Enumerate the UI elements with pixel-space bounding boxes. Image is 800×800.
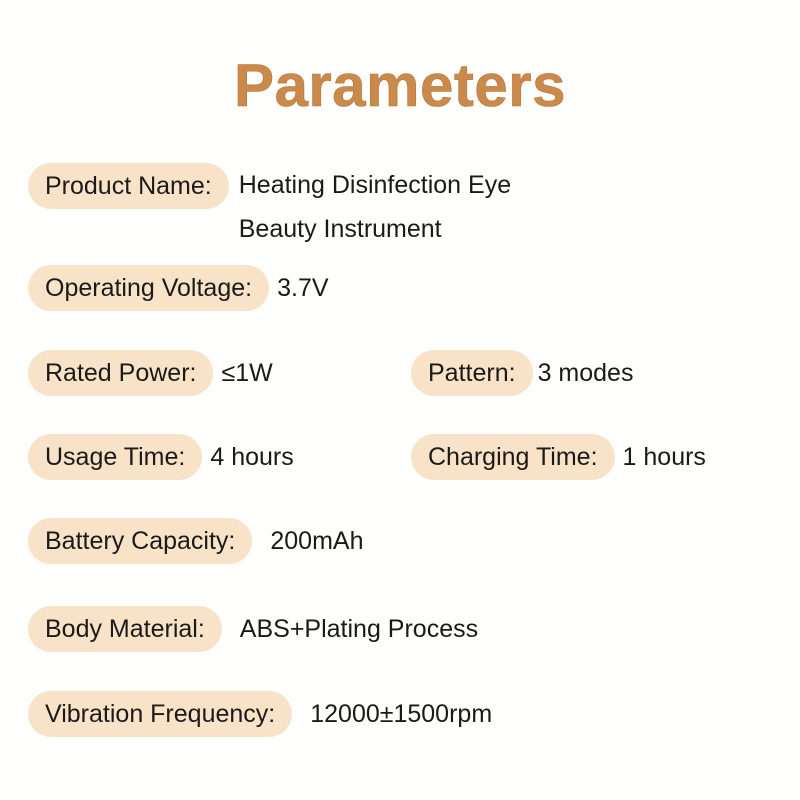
spec-value-product-name-line2: Beauty Instrument <box>239 207 511 251</box>
spec-value-vibration-frequency: 12000±1500rpm <box>292 691 492 737</box>
spec-label-operating-voltage: Operating Voltage: <box>28 265 269 311</box>
spec-label-product-name: Product Name: <box>28 163 229 209</box>
spec-label-usage-time: Usage Time: <box>28 434 202 480</box>
spec-value-usage-time: 4 hours <box>202 434 293 480</box>
spec-value-charging-time: 1 hours <box>615 434 706 480</box>
page-title: Parameters <box>0 52 800 120</box>
spec-value-rated-power: ≤1W <box>213 350 272 396</box>
spec-cell-vibration-frequency: Vibration Frequency: 12000±1500rpm <box>28 691 492 737</box>
spec-row-usage-charging-time: Usage Time: 4 hours Charging Time: 1 hou… <box>0 434 800 482</box>
spec-cell-product-name: Product Name: Heating Disinfection Eye B… <box>28 163 511 251</box>
spec-cell-charging-time: Charging Time: 1 hours <box>411 434 706 480</box>
spec-label-vibration-frequency: Vibration Frequency: <box>28 691 292 737</box>
spec-value-product-name: Heating Disinfection Eye Beauty Instrume… <box>229 163 511 251</box>
spec-value-pattern: 3 modes <box>533 350 634 396</box>
spec-cell-pattern: Pattern: 3 modes <box>411 350 633 396</box>
spec-label-rated-power: Rated Power: <box>28 350 213 396</box>
spec-row-battery-capacity: Battery Capacity: 200mAh <box>0 518 800 566</box>
spec-row-product-name: Product Name: Heating Disinfection Eye B… <box>0 163 800 211</box>
spec-row-vibration-frequency: Vibration Frequency: 12000±1500rpm <box>0 691 800 739</box>
parameters-sheet: Parameters Product Name: Heating Disinfe… <box>0 0 800 800</box>
spec-cell-battery-capacity: Battery Capacity: 200mAh <box>28 518 363 564</box>
spec-cell-operating-voltage: Operating Voltage: 3.7V <box>28 265 329 311</box>
spec-row-rated-power-pattern: Rated Power: ≤1W Pattern: 3 modes <box>0 350 800 398</box>
spec-label-body-material: Body Material: <box>28 606 222 652</box>
spec-cell-rated-power: Rated Power: ≤1W <box>28 350 273 396</box>
spec-cell-usage-time: Usage Time: 4 hours <box>28 434 294 480</box>
spec-value-body-material: ABS+Plating Process <box>222 606 478 652</box>
spec-label-charging-time: Charging Time: <box>411 434 615 480</box>
spec-value-battery-capacity: 200mAh <box>252 518 363 564</box>
spec-row-operating-voltage: Operating Voltage: 3.7V <box>0 265 800 313</box>
spec-cell-body-material: Body Material: ABS+Plating Process <box>28 606 478 652</box>
spec-value-product-name-line1: Heating Disinfection Eye <box>239 171 511 199</box>
spec-value-operating-voltage: 3.7V <box>269 265 328 311</box>
spec-label-pattern: Pattern: <box>411 350 533 396</box>
spec-label-battery-capacity: Battery Capacity: <box>28 518 252 564</box>
spec-row-body-material: Body Material: ABS+Plating Process <box>0 606 800 654</box>
